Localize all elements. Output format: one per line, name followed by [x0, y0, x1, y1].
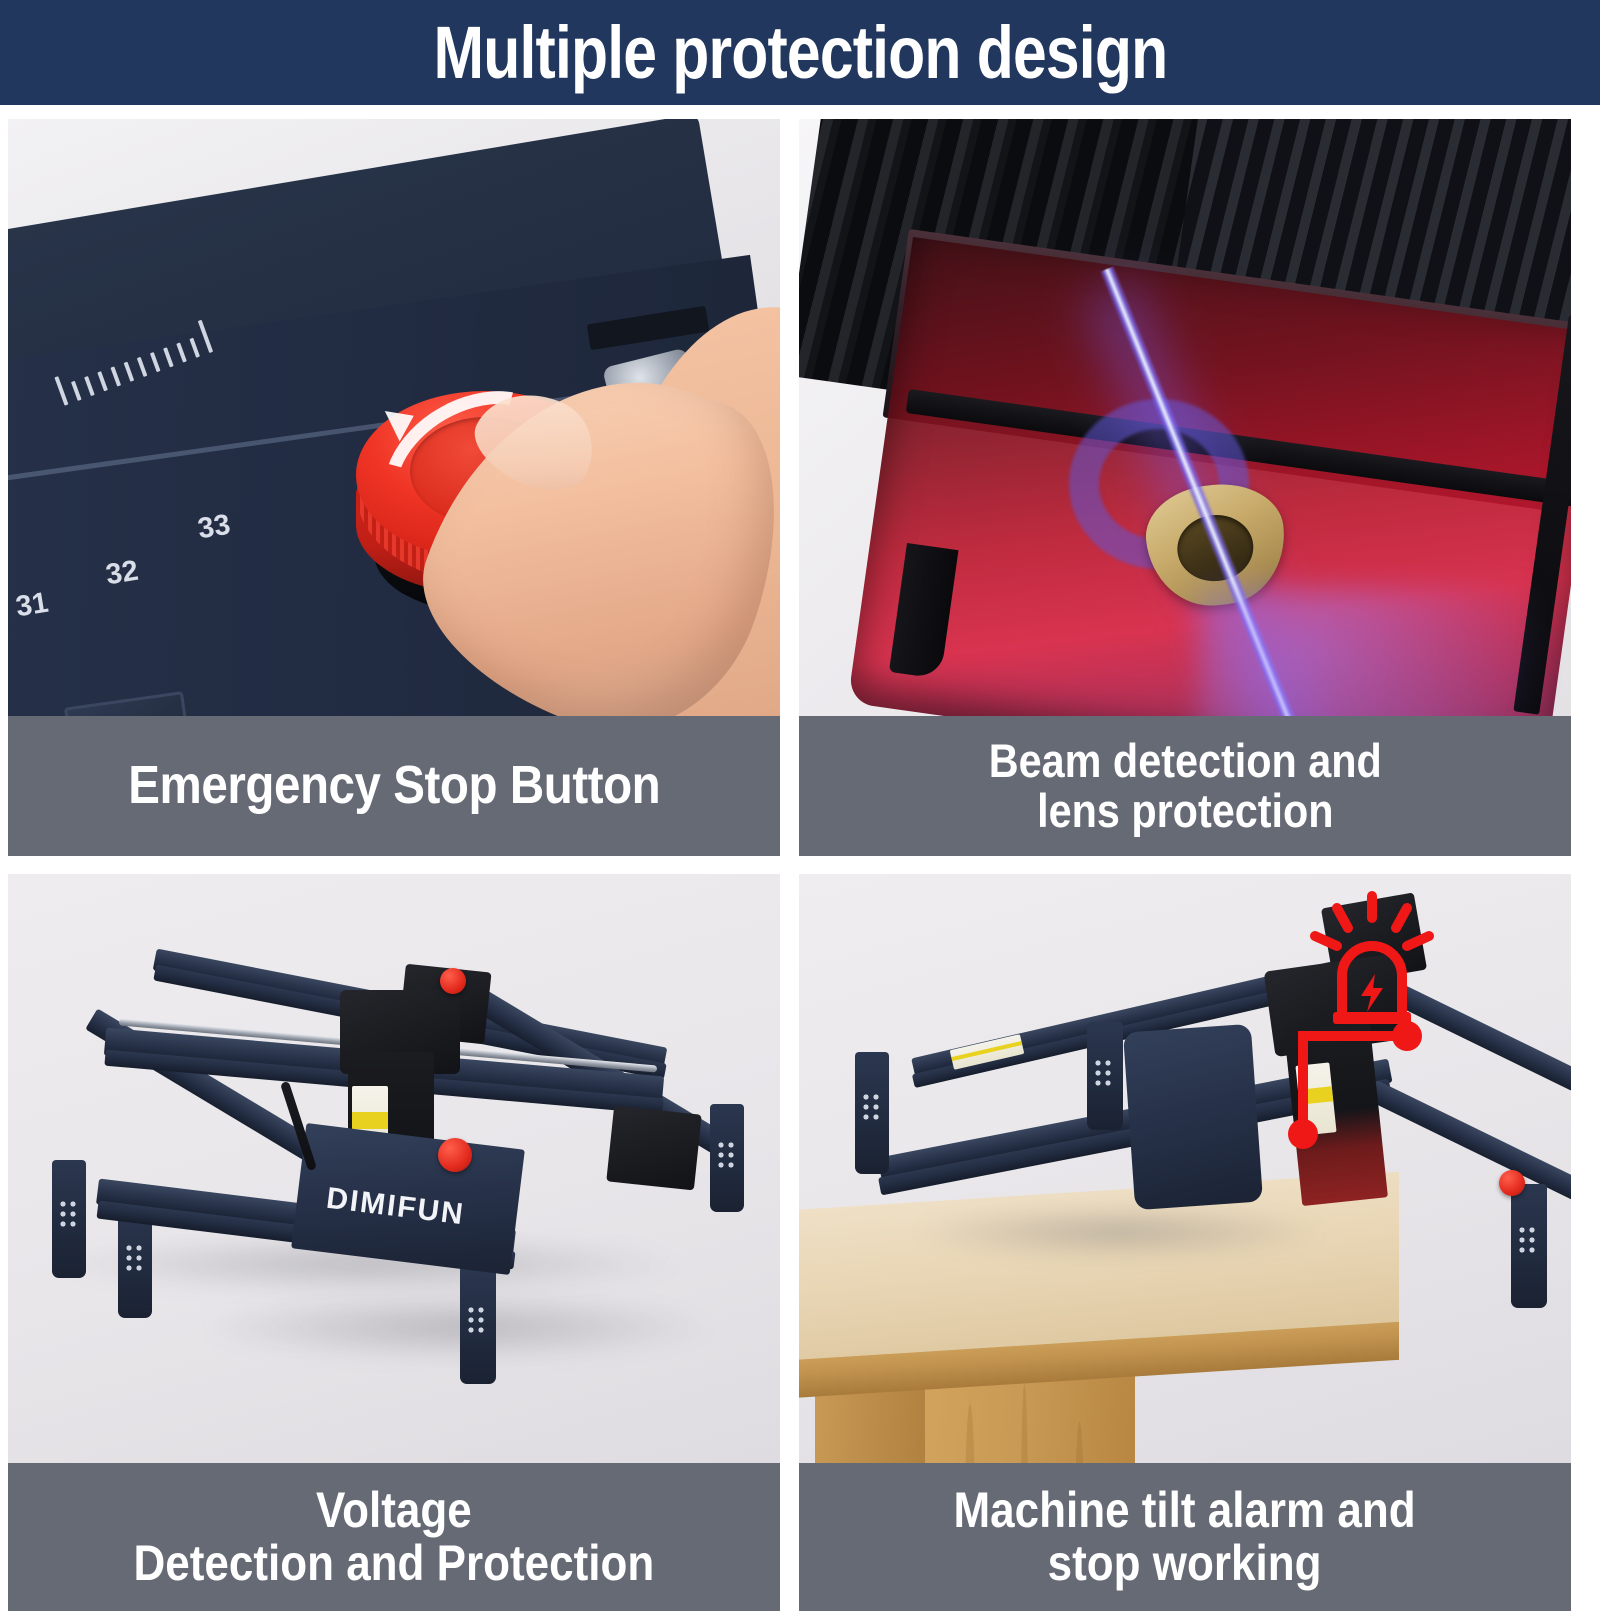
alarm-beacon-icon [1297, 890, 1447, 1030]
leg-right-tilt [1511, 1184, 1547, 1308]
caption-line-2: lens protection [988, 786, 1381, 836]
center-mount-plate [1123, 1024, 1263, 1210]
leader-dot-top [1392, 1021, 1422, 1051]
red-marker-button[interactable] [1499, 1170, 1525, 1196]
leg-mid-tilt [1087, 1022, 1123, 1130]
leg-rear-left [52, 1160, 86, 1278]
caption-line-1: Voltage [134, 1484, 655, 1537]
caption-line-1: Machine tilt alarm and [954, 1484, 1416, 1537]
panel-tilt-alarm: Machine tilt alarm and stop working [799, 874, 1571, 1611]
feature-grid: 31 32 33 [8, 119, 1592, 1592]
ruler-number-32: 32 [104, 555, 141, 593]
engraver-assembly: DIMIFUN [8, 874, 780, 1463]
header-banner: Multiple protection design [0, 0, 1600, 105]
page-title: Multiple protection design [433, 16, 1167, 90]
control-box-estop-button[interactable] [438, 1138, 472, 1172]
panel-emergency-stop: 31 32 33 [8, 119, 780, 856]
panel-voltage-detection: DIMIFUN Voltage Detection and Protection [8, 874, 780, 1611]
leader-dot-bottom [1288, 1119, 1318, 1149]
caption-emergency-stop: Emergency Stop Button [8, 716, 780, 856]
leg-rear-right [710, 1104, 744, 1212]
caption-line-2: stop working [954, 1537, 1416, 1590]
caption-voltage-detection: Voltage Detection and Protection [8, 1463, 780, 1611]
panel-beam-detection: Beam detection and lens protection [799, 119, 1571, 856]
photo-tilt-alarm [799, 874, 1571, 1463]
caption-line: Emergency Stop Button [128, 757, 660, 814]
leg-left-tilt [855, 1052, 889, 1174]
caption-tilt-alarm: Machine tilt alarm and stop working [799, 1463, 1571, 1611]
caption-line-1: Beam detection and [988, 736, 1381, 786]
ruler-number-33: 33 [196, 509, 233, 547]
caption-line-2: Detection and Protection [134, 1537, 655, 1590]
alarm-leader-line [1289, 1022, 1489, 1202]
photo-voltage-detection: DIMIFUN [8, 874, 780, 1463]
ruler-number-31: 31 [14, 587, 51, 625]
upper-red-button[interactable] [440, 968, 466, 994]
tilt-shadow [909, 1204, 1329, 1260]
leg-front-right [460, 1266, 496, 1384]
photo-emergency-stop: 31 32 33 [8, 119, 780, 716]
infographic-poster: Multiple protection design [0, 0, 1600, 1600]
stepper-motor-right [606, 1106, 701, 1191]
machine-shadow-right [198, 1292, 718, 1362]
caption-beam-detection: Beam detection and lens protection [799, 716, 1571, 856]
photo-beam-detection [799, 119, 1571, 716]
beam-flare [1199, 589, 1559, 716]
